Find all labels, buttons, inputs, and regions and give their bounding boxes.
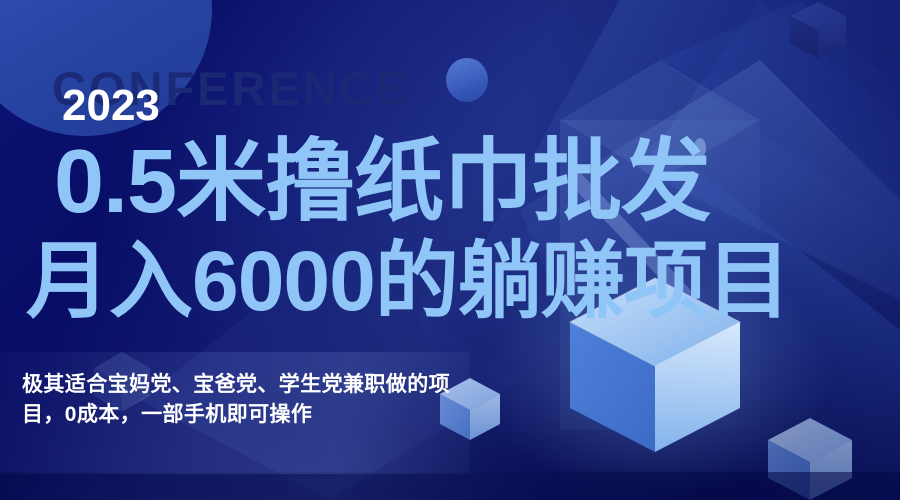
year-label: 2023 (62, 84, 160, 128)
poster-canvas: CONFERENCE 2023 0.5米撸纸巾批发 月入6000的躺赚项目 极其… (0, 0, 900, 500)
headline-line-1: 0.5米撸纸巾批发 (0, 138, 900, 226)
headline-line-2: 月入6000的躺赚项目 (0, 240, 900, 322)
headline-block: 0.5米撸纸巾批发 月入6000的躺赚项目 (0, 138, 900, 323)
decor-circle-mid-top (446, 58, 488, 102)
description-text: 极其适合宝妈党、宝爸党、学生党兼职做的项目，0成本，一部手机即可操作 (22, 370, 484, 430)
